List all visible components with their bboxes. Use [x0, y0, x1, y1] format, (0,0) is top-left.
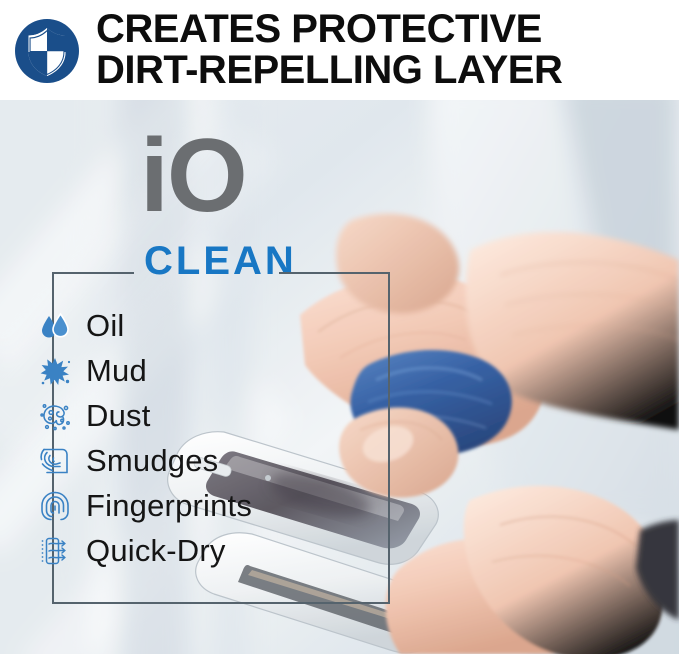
- headline-group: CREATES PROTECTIVE DIRT-REPELLING LAYER: [96, 9, 562, 91]
- header-banner: CREATES PROTECTIVE DIRT-REPELLING LAYER: [0, 0, 679, 100]
- product-photo: iO CLEAN Oil: [0, 100, 679, 654]
- headline-line-1: CREATES PROTECTIVE: [96, 9, 562, 50]
- shield-icon: [14, 18, 80, 84]
- photo-illustration: [0, 100, 679, 654]
- product-feature-infographic: CREATES PROTECTIVE DIRT-REPELLING LAYER: [0, 0, 679, 654]
- headline-line-2: DIRT-REPELLING LAYER: [96, 50, 562, 91]
